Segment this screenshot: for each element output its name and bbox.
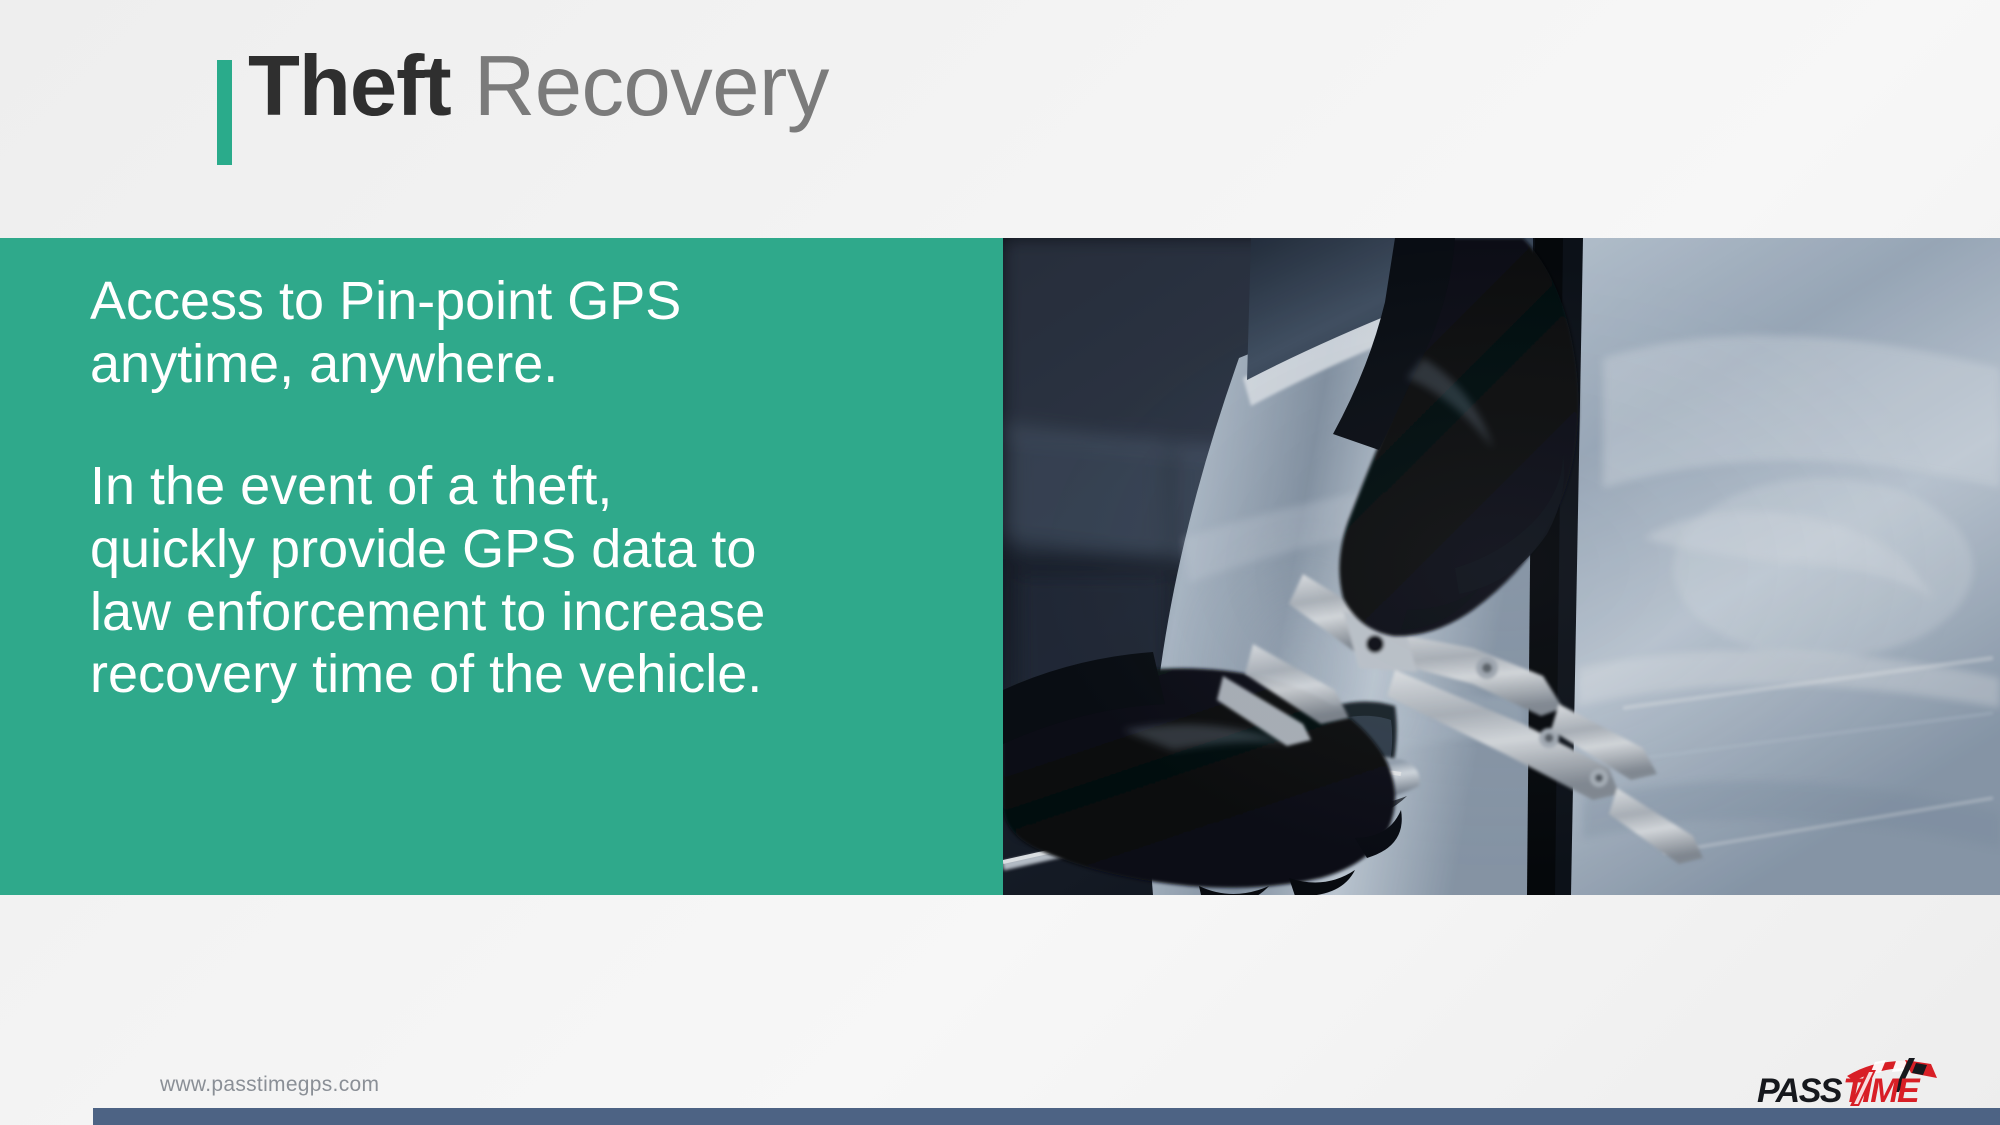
content-panel: Access to Pin-point GPS anytime, anywher…: [0, 238, 1003, 895]
paragraph-two-line-2: quickly provide GPS data to: [90, 518, 980, 581]
paragraph-two-line-4: recovery time of the vehicle.: [90, 643, 980, 706]
paragraph-one-line-1: Access to Pin-point GPS: [90, 270, 980, 333]
passtime-logo-mark: PASS TIME: [1755, 1058, 1970, 1110]
title-bold-word: Theft: [248, 39, 451, 134]
passtime-logo: PASS TIME: [1755, 1058, 1970, 1110]
title-light-word: Recovery: [451, 39, 829, 134]
title-accent-bar: [217, 60, 232, 165]
svg-text:PASS: PASS: [1757, 1072, 1843, 1110]
paragraph-one: Access to Pin-point GPS anytime, anywher…: [90, 270, 980, 395]
paragraph-two: In the event of a theft, quickly provide…: [90, 455, 980, 706]
body-text-block: Access to Pin-point GPS anytime, anywher…: [90, 270, 980, 706]
page-title: Theft Recovery: [248, 44, 829, 129]
footer-url[interactable]: www.passtimegps.com: [160, 1073, 379, 1097]
car-theft-illustration: [1003, 238, 2000, 895]
slide-title-band: Theft Recovery: [0, 0, 2000, 238]
paragraph-two-line-1: In the event of a theft,: [90, 455, 980, 518]
footer-bar: [93, 1108, 2000, 1125]
slide-canvas: Theft Recovery Access to Pin-point GPS a…: [0, 0, 2000, 1125]
paragraph-one-line-2: anytime, anywhere.: [90, 333, 980, 396]
car-theft-photo: [1003, 238, 2000, 895]
paragraph-spacer: [90, 395, 980, 455]
paragraph-two-line-3: law enforcement to increase: [90, 581, 980, 644]
